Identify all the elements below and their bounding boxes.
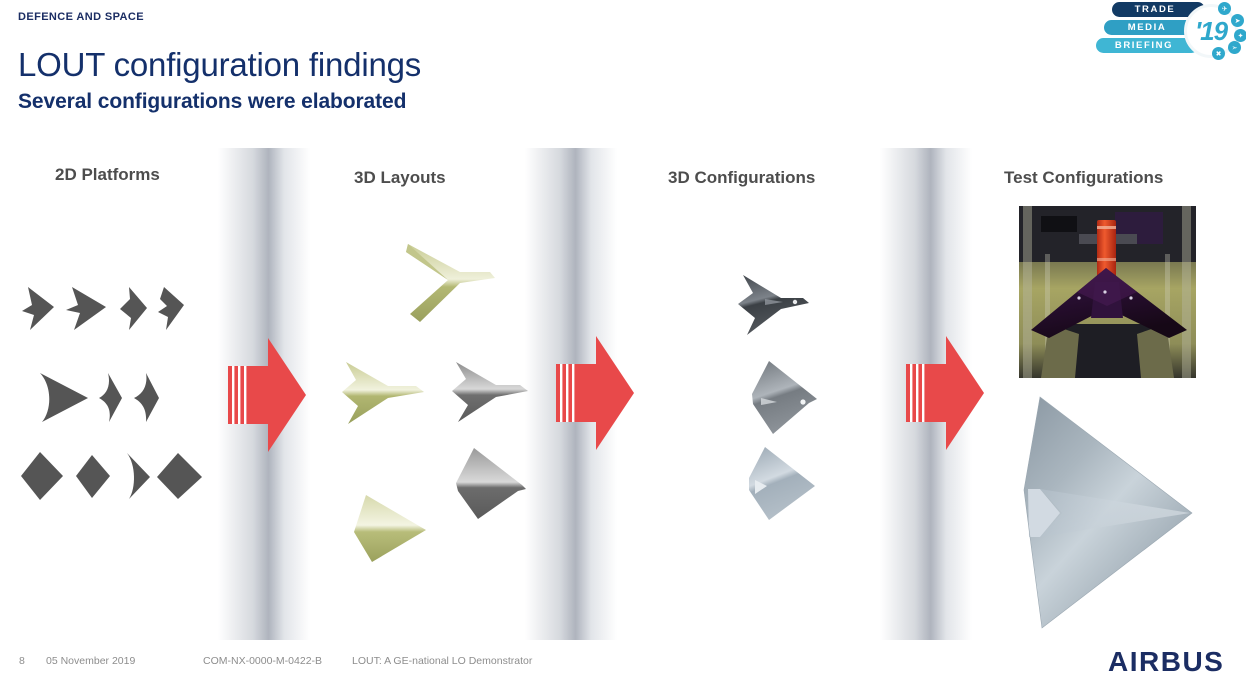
logo-bar-media: MEDIA [1104, 20, 1190, 35]
gray-lambda-layout [450, 358, 532, 428]
helicopter-icon: ✖ [1212, 47, 1225, 60]
rcs-chamber-photo-content [1019, 206, 1196, 378]
eyebrow-text: DEFENCE AND SPACE [18, 11, 144, 23]
large-delta-model-shape [1000, 385, 1205, 645]
sharp-arrow-planform [62, 285, 114, 333]
rocket-icon: ➣ [1228, 41, 1241, 54]
trade-media-briefing-logo: TRADE MEDIA BRIEFING '19 ✈ ➤ ✦ ➣ ✖ [1092, 0, 1246, 62]
large-delta-model-render [1000, 385, 1205, 645]
rcs-chamber-photo [1019, 206, 1196, 378]
airbus-logo: AIRBUS [1108, 646, 1224, 678]
3d-configurations-group [725, 272, 855, 532]
olive-delta-layout [348, 492, 434, 568]
process-flow-arrow-1 [220, 330, 312, 460]
olive-lambda-layout [340, 358, 430, 428]
small-diamond-planform [72, 450, 116, 502]
wide-delta-planform [34, 370, 94, 425]
page-subtitle: Several configurations were elaborated [18, 88, 406, 116]
diamond-notched-planform [114, 285, 154, 333]
3d-layouts-group [340, 230, 520, 580]
paper-plane-icon: ➤ [1231, 14, 1244, 27]
slide-footer: 8 05 November 2019 COM-NX-0000-M-0422-B … [0, 650, 1246, 672]
olive-chevron-layout [400, 238, 500, 328]
footer-page-number: 8 [19, 655, 25, 667]
logo-bar-trade: TRADE [1112, 2, 1198, 17]
gray-delta-layout [452, 445, 530, 525]
plane-icon: ✈ [1218, 2, 1231, 15]
column-heading-3d-layouts: 3D Layouts [354, 168, 446, 188]
light-delta-configuration [743, 444, 823, 526]
footer-date: 05 November 2019 [46, 655, 135, 667]
crescent-delta-planform [118, 450, 154, 502]
process-flow-arrow-2 [548, 328, 640, 458]
column-heading-test-configurations: Test Configurations [1004, 168, 1163, 188]
cranked-kite-planform [152, 285, 194, 333]
slide: DEFENCE AND SPACE LOUT configuration fin… [0, 0, 1246, 691]
swept-chevron-planform [18, 285, 64, 333]
slender-diamond-planform [130, 370, 164, 425]
satellite-icon: ✦ [1234, 29, 1246, 42]
broad-diamond-planform [154, 450, 206, 502]
column-heading-2d-platforms: 2D Platforms [55, 165, 160, 185]
footer-document-id: COM-NX-0000-M-0422-B [203, 655, 322, 667]
slender-lambda-planform [94, 370, 128, 425]
dark-lambda-configuration [735, 272, 815, 344]
column-heading-3d-configurations: 3D Configurations [668, 168, 815, 188]
diamond-planform [18, 450, 68, 502]
page-title: LOUT configuration findings [18, 45, 421, 85]
logo-bar-briefing: BRIEFING [1096, 38, 1192, 53]
footer-project: LOUT: A GE-national LO Demonstrator [352, 655, 532, 667]
process-flow-arrow-3 [898, 328, 990, 458]
mid-delta-configuration [747, 358, 825, 440]
